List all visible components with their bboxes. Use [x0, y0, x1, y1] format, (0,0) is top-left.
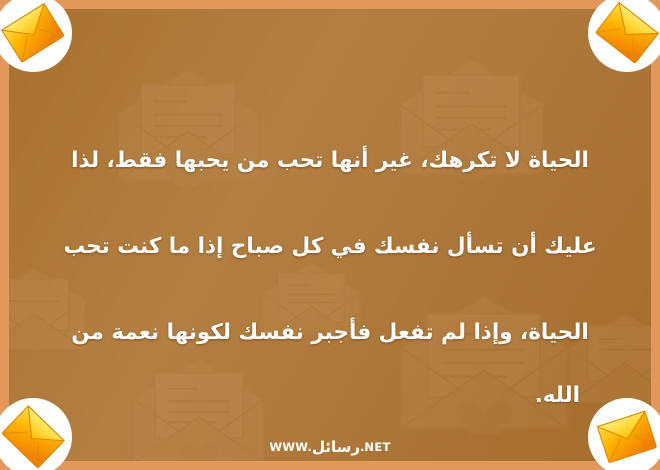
corner-badge-bottom-right	[588, 398, 660, 470]
envelope-icon	[594, 1, 660, 65]
envelope-icon	[0, 405, 65, 470]
watermark-prefix: WWW.	[269, 440, 312, 454]
quote-line-3: الحياة، وإذا لم تفعل فأجبر نفسك لكونها ن…	[22, 290, 638, 376]
greeting-card: الحياة لا تكرهك، غير أنها تحب من يحبها ف…	[0, 0, 660, 470]
envelope-icon	[0, 2, 65, 63]
site-watermark: WWW.رسائل.NET	[0, 438, 660, 456]
quote-text-block: الحياة لا تكرهك، غير أنها تحب من يحبها ف…	[22, 118, 638, 416]
quote-line-4: الله.	[22, 376, 638, 416]
quote-line-2: عليك أن تسأل نفسك في كل صباح إذا ما كنت …	[22, 204, 638, 290]
quote-line-1: الحياة لا تكرهك، غير أنها تحب من يحبها ف…	[22, 118, 638, 204]
watermark-arabic-name: رسائل	[312, 438, 360, 456]
watermark-suffix: .NET	[360, 440, 391, 454]
